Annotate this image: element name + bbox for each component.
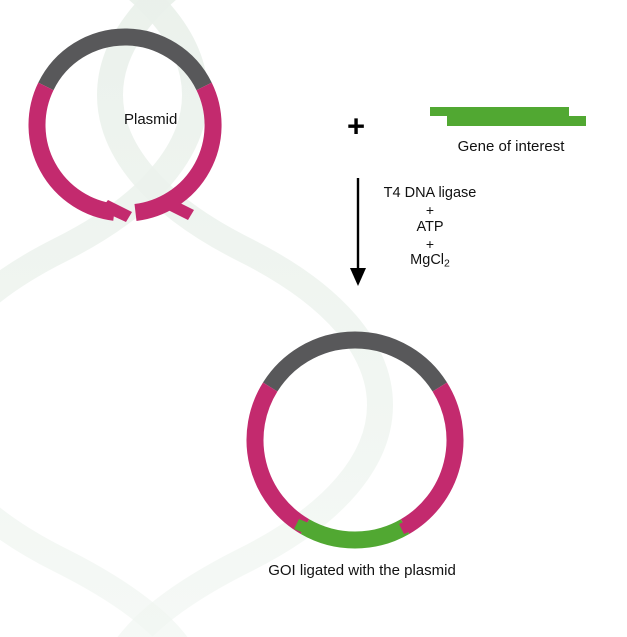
cofactor-label: ATP	[384, 219, 477, 236]
reaction-arrow	[350, 178, 366, 286]
top-plasmid	[37, 37, 213, 222]
salt-label: MgCl2	[384, 252, 477, 271]
enzyme-label: T4 DNA ligase	[384, 185, 477, 202]
plasmid-gray-arc	[46, 37, 204, 86]
product-green-insert-arc	[305, 527, 405, 540]
plasmid-magenta-right-arc	[136, 86, 214, 212]
gene-of-interest-fragment	[430, 107, 586, 126]
goi-lower-strand	[447, 116, 586, 126]
salt-subscript: 2	[444, 259, 450, 270]
plus-operator: +	[347, 111, 365, 142]
gene-of-interest-label: Gene of interest	[458, 138, 565, 156]
figure-canvas: Plasmid + Gene of interest T4 DNA ligase…	[0, 0, 627, 637]
product-magenta-left-arc	[255, 387, 305, 527]
product-gray-arc	[270, 340, 440, 387]
product-plasmid	[255, 340, 455, 540]
plasmid-label: Plasmid	[124, 111, 177, 129]
product-caption: GOI ligated with the plasmid	[268, 562, 456, 580]
salt-formula: MgCl	[410, 252, 444, 268]
reaction-plus-2: +	[384, 236, 477, 253]
product-magenta-right-arc	[405, 387, 455, 527]
reaction-plus-1: +	[384, 202, 477, 219]
arrow-head	[350, 268, 366, 286]
plasmid-magenta-left-arc	[37, 86, 114, 212]
ligation-diagram	[0, 0, 627, 637]
goi-upper-strand	[430, 107, 569, 116]
reaction-conditions: T4 DNA ligase + ATP + MgCl2	[384, 185, 477, 271]
